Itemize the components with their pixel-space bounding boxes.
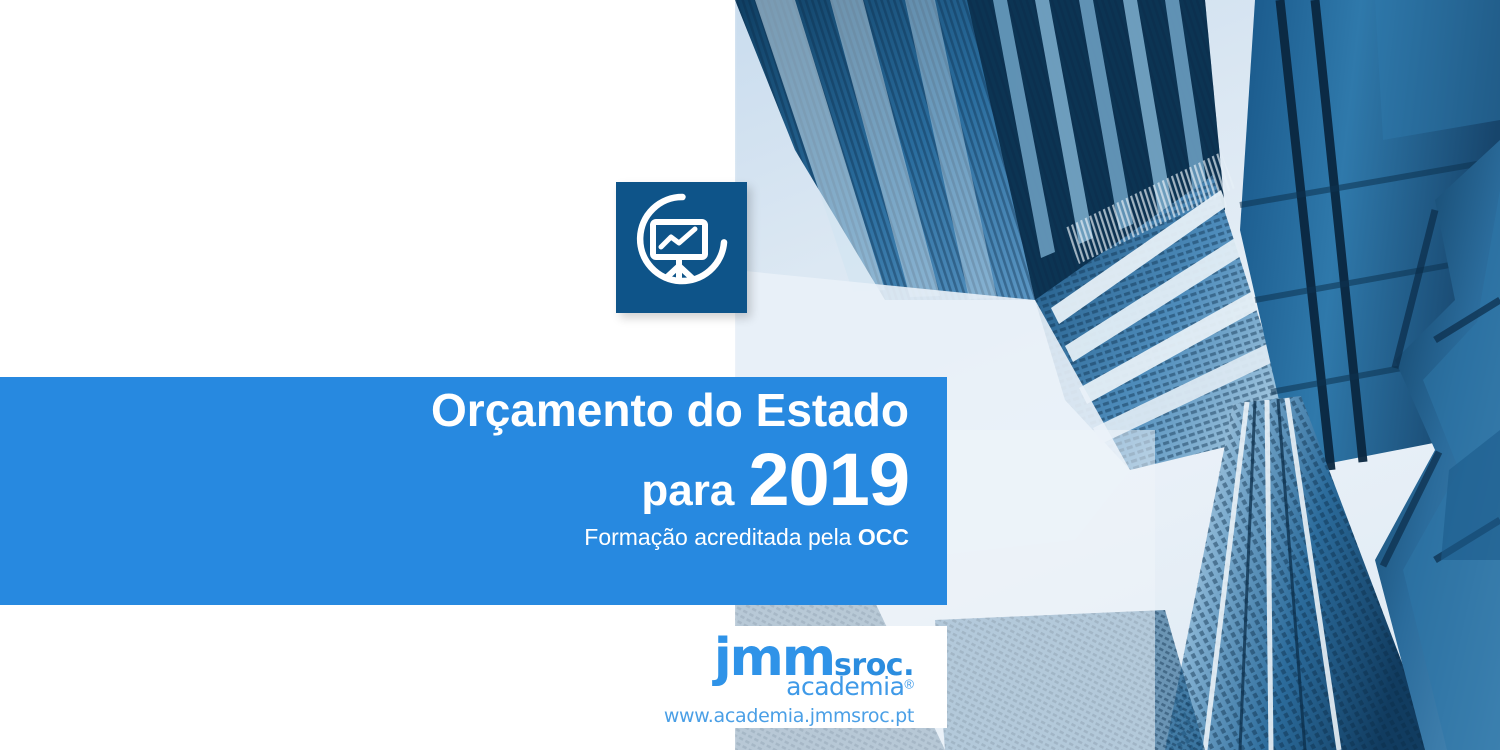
- title-para-word: para: [641, 466, 734, 515]
- registered-trademark-icon: ®: [904, 677, 914, 692]
- logo-academia-text: academia: [786, 672, 904, 701]
- title-year: 2019: [748, 438, 909, 521]
- jmm-logo: jmmsroc. academia® www.academia.jmmsroc.…: [664, 632, 914, 726]
- title-block: Orçamento do Estado para2019 Formação ac…: [269, 387, 909, 550]
- subtitle-text: Formação acreditada pela: [584, 524, 858, 550]
- presentation-chart-icon-tile: [616, 182, 747, 313]
- subtitle-occ-badge: OCC: [858, 524, 909, 550]
- poster-title-line1: Orçamento do Estado: [269, 387, 909, 433]
- poster-canvas: Orçamento do Estado para2019 Formação ac…: [0, 0, 1500, 750]
- poster-subtitle: Formação acreditada pela OCC: [269, 525, 909, 550]
- website-url[interactable]: www.academia.jmmsroc.pt: [664, 707, 914, 726]
- presentation-chart-icon: [616, 182, 747, 313]
- title-banner: Orçamento do Estado para2019 Formação ac…: [0, 377, 947, 605]
- logo-box: jmmsroc. academia® www.academia.jmmsroc.…: [505, 626, 947, 728]
- poster-title-line2: para2019: [269, 443, 909, 517]
- logo-academia-row: academia®: [664, 674, 914, 699]
